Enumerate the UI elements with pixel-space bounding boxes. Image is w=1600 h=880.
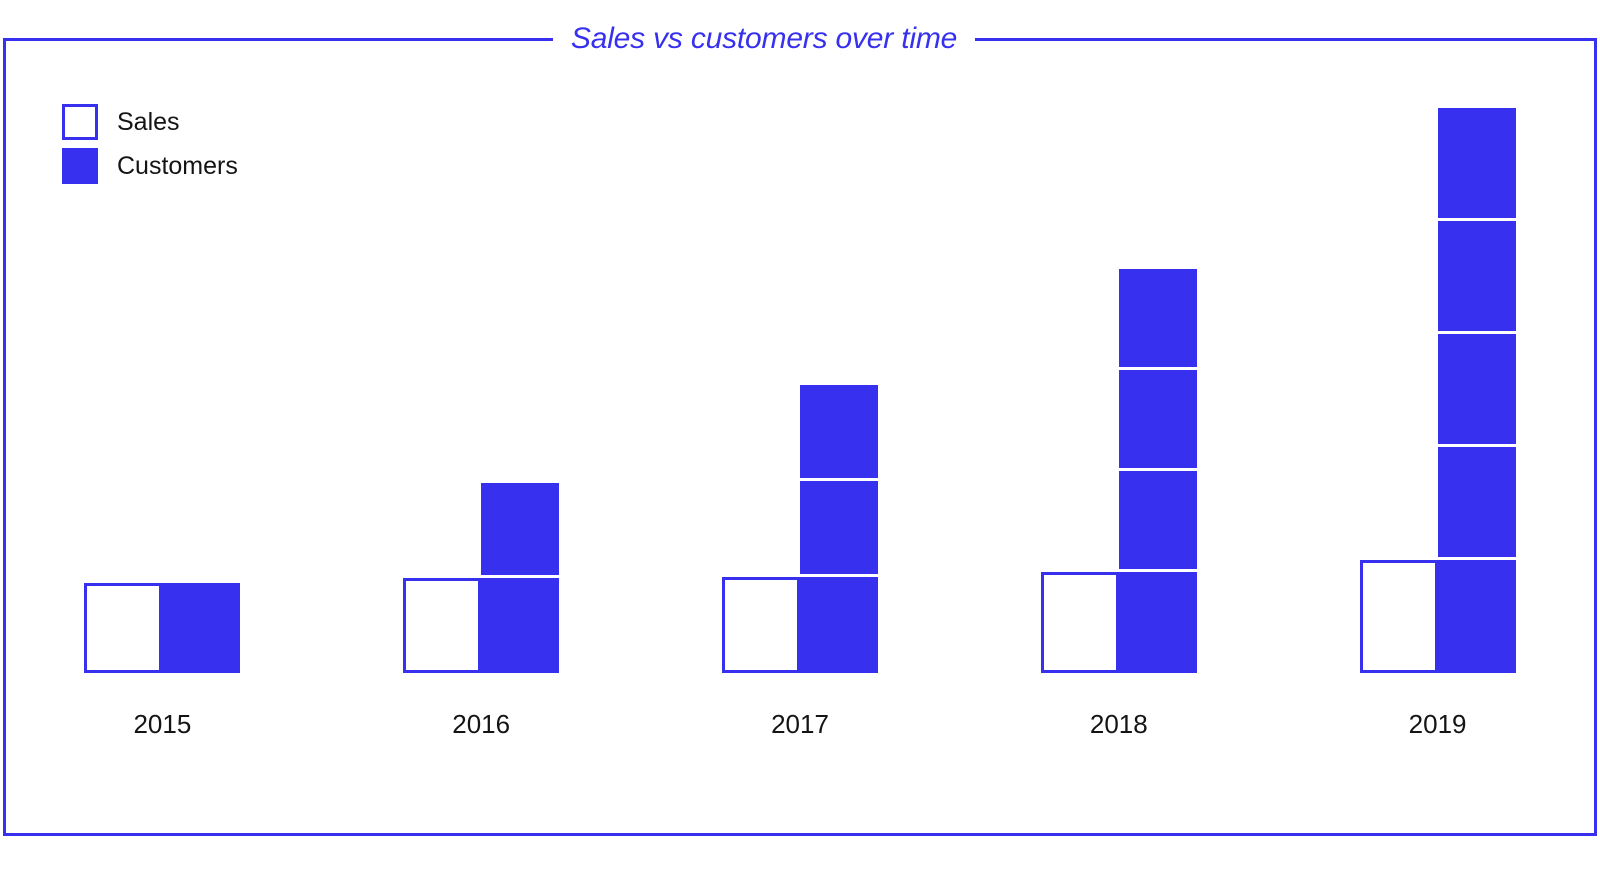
bar-sales[interactable] bbox=[1041, 572, 1119, 673]
bar-unit-sales bbox=[84, 583, 162, 673]
bar-group-columns bbox=[84, 60, 240, 673]
bar-group-columns bbox=[403, 60, 559, 673]
bar-unit-customers bbox=[1119, 370, 1197, 471]
x-axis-label: 2019 bbox=[1409, 673, 1467, 833]
bar-customers[interactable] bbox=[1438, 108, 1516, 673]
bar-group: 2016 bbox=[322, 60, 641, 833]
x-axis-label: 2016 bbox=[452, 673, 510, 833]
bar-customers[interactable] bbox=[162, 583, 240, 673]
bar-unit-customers bbox=[1119, 269, 1197, 370]
bar-unit-sales bbox=[403, 578, 481, 673]
bar-group: 2018 bbox=[959, 60, 1278, 833]
bar-sales[interactable] bbox=[403, 578, 481, 673]
bar-unit-customers bbox=[1119, 471, 1197, 572]
frame-border-top-left bbox=[3, 38, 528, 41]
frame-border-top-right bbox=[1000, 38, 1597, 41]
bar-unit-customers bbox=[481, 483, 559, 578]
bar-sales[interactable] bbox=[722, 577, 800, 673]
bar-group: 2019 bbox=[1278, 60, 1597, 833]
bar-sales[interactable] bbox=[1360, 560, 1438, 673]
x-axis-label: 2015 bbox=[133, 673, 191, 833]
chart-canvas: Sales vs customers over time Sales Custo… bbox=[0, 0, 1600, 880]
bar-unit-sales bbox=[1041, 572, 1119, 673]
x-axis-label: 2018 bbox=[1090, 673, 1148, 833]
bar-unit-customers bbox=[1438, 560, 1516, 673]
x-axis-label: 2017 bbox=[771, 673, 829, 833]
bar-unit-customers bbox=[1438, 447, 1516, 560]
bar-unit-customers bbox=[800, 481, 878, 577]
bar-unit-customers bbox=[162, 583, 240, 673]
bar-customers[interactable] bbox=[800, 385, 878, 673]
plot-area: 20152016201720182019 bbox=[3, 60, 1597, 833]
bar-group-columns bbox=[1041, 60, 1197, 673]
title-rule-left-icon bbox=[483, 38, 553, 41]
bar-unit-sales bbox=[1360, 560, 1438, 673]
title-rule-right-icon bbox=[975, 38, 1045, 41]
bar-customers[interactable] bbox=[1119, 269, 1197, 673]
bar-groups: 20152016201720182019 bbox=[3, 60, 1597, 833]
bar-group: 2017 bbox=[641, 60, 960, 833]
bar-unit-customers bbox=[800, 385, 878, 481]
bar-customers[interactable] bbox=[481, 483, 559, 673]
bar-unit-customers bbox=[481, 578, 559, 673]
bar-sales[interactable] bbox=[84, 583, 162, 673]
bar-unit-customers bbox=[1438, 221, 1516, 334]
bar-group: 2015 bbox=[3, 60, 322, 833]
bar-unit-sales bbox=[722, 577, 800, 673]
bar-group-columns bbox=[722, 60, 878, 673]
bar-unit-customers bbox=[1438, 334, 1516, 447]
bar-unit-customers bbox=[1438, 108, 1516, 221]
bar-unit-customers bbox=[800, 577, 878, 673]
chart-title: Sales vs customers over time bbox=[528, 16, 1000, 62]
chart-title-text: Sales vs customers over time bbox=[571, 24, 957, 54]
bar-unit-customers bbox=[1119, 572, 1197, 673]
bar-group-columns bbox=[1360, 60, 1516, 673]
frame-border-bottom bbox=[3, 833, 1597, 836]
